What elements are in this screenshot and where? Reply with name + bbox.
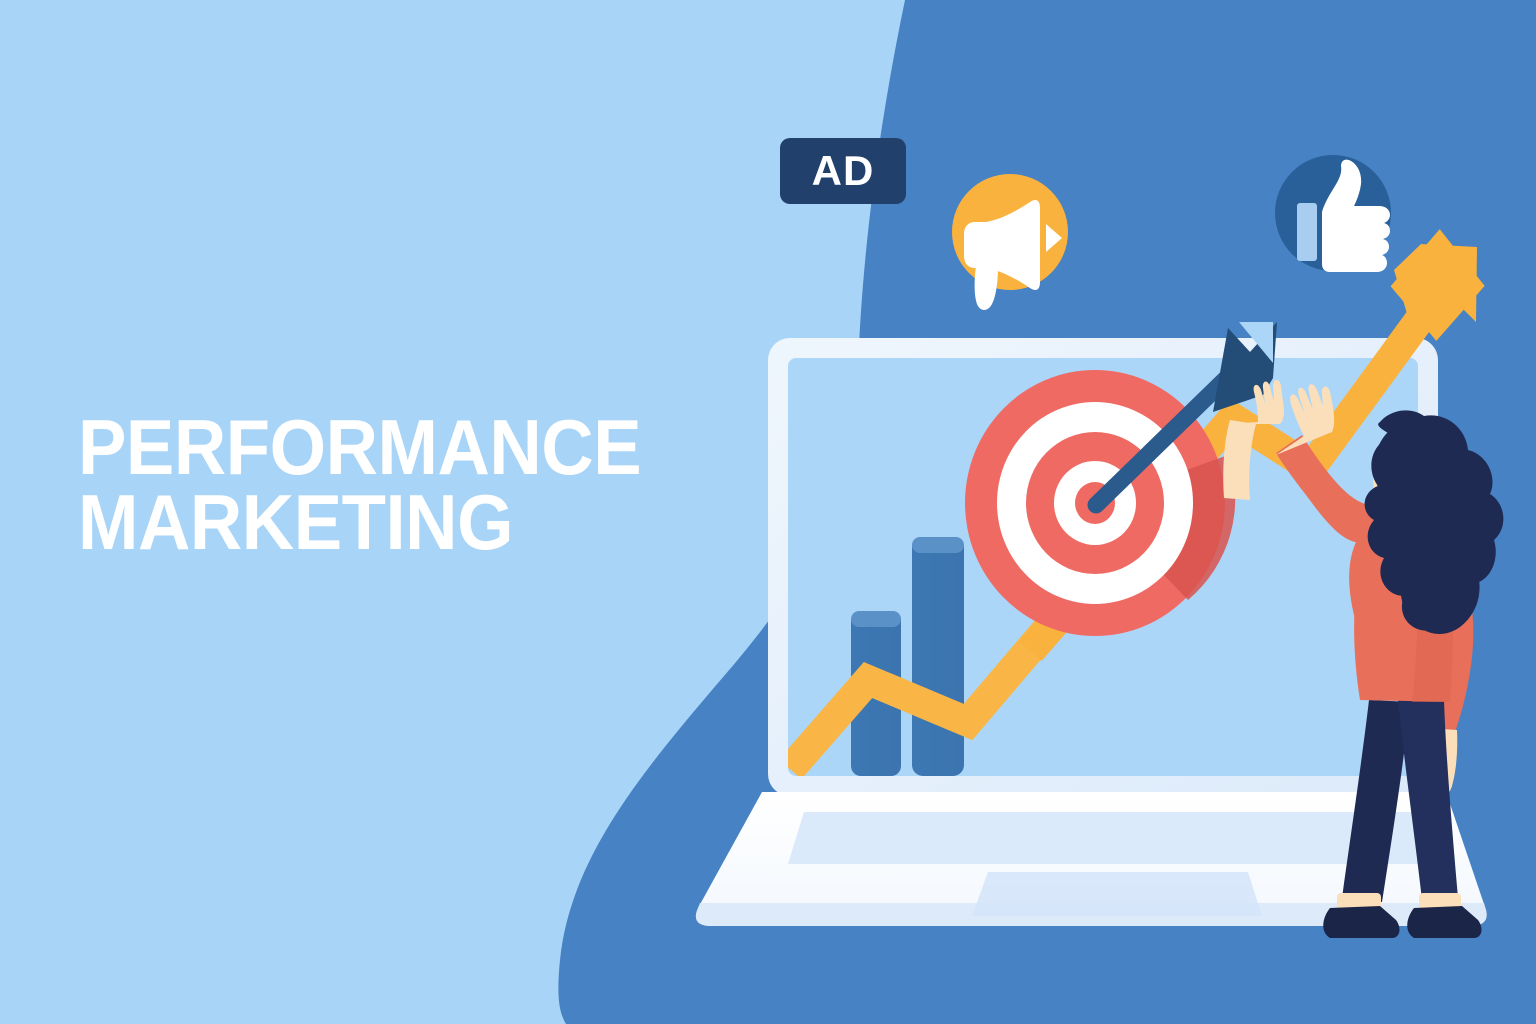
laptop-trackpad [972,872,1262,916]
illustration-canvas: PERFORMANCE MARKETING AD [0,0,1536,1024]
chart-bar-2 [912,537,964,776]
ad-badge-label: AD [783,140,903,202]
chart-bar-2-highlight [912,537,964,553]
thumbs-up-cuff [1297,203,1317,261]
chart-bar-1-highlight [851,611,901,627]
person-hair-shoulder [1400,540,1479,634]
laptop-keyboard [788,812,1428,864]
performance-marketing-illustration [0,0,1536,1024]
